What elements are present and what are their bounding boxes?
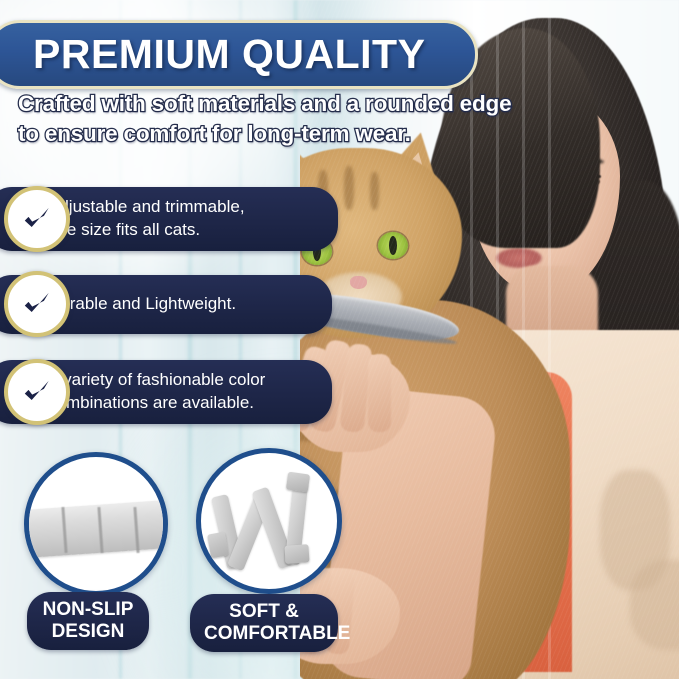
product-feature-image: PREMIUM QUALITY Crafted with soft materi… <box>0 0 679 679</box>
badge-label-soft-comfortable: SOFT & COMFORTABLE <box>190 594 338 652</box>
finger <box>368 354 391 432</box>
check-glyph <box>20 202 54 236</box>
check-icon <box>4 359 70 425</box>
cat-forehead-stripe <box>370 172 379 210</box>
check-icon <box>4 186 70 252</box>
check-icon <box>4 271 70 337</box>
lips <box>496 248 542 268</box>
feature-item-1: Adjustable and trimmable, one size fits … <box>0 187 338 251</box>
check-glyph <box>20 375 54 409</box>
subtitle-line-1: Crafted with soft materials and a rounde… <box>18 89 538 119</box>
collar-strap-image <box>24 500 168 558</box>
badge-circle-non-slip <box>24 452 168 596</box>
harness-buckle <box>284 544 309 564</box>
cat-forehead-stripe <box>344 166 354 210</box>
page-title: PREMIUM QUALITY <box>33 31 425 78</box>
badge-circle-soft-comfortable <box>196 448 342 594</box>
subtitle: Crafted with soft materials and a rounde… <box>18 89 538 148</box>
cat-pupil <box>389 236 397 255</box>
harness-buckle <box>286 472 310 493</box>
title-banner: PREMIUM QUALITY <box>0 20 478 89</box>
feature-item-3: A variety of fashionable color combinati… <box>0 360 332 424</box>
feature-item-2: Durable and Lightweight. <box>0 275 332 334</box>
cat-eye <box>378 232 408 259</box>
cardigan-fold <box>630 560 679 650</box>
check-glyph <box>20 287 54 321</box>
subtitle-line-2: to ensure comfort for long-term wear. <box>18 119 538 149</box>
cat-nose <box>350 276 367 289</box>
badge-label-non-slip: NON-SLIP DESIGN <box>27 592 149 650</box>
harness-buckle <box>207 532 229 559</box>
